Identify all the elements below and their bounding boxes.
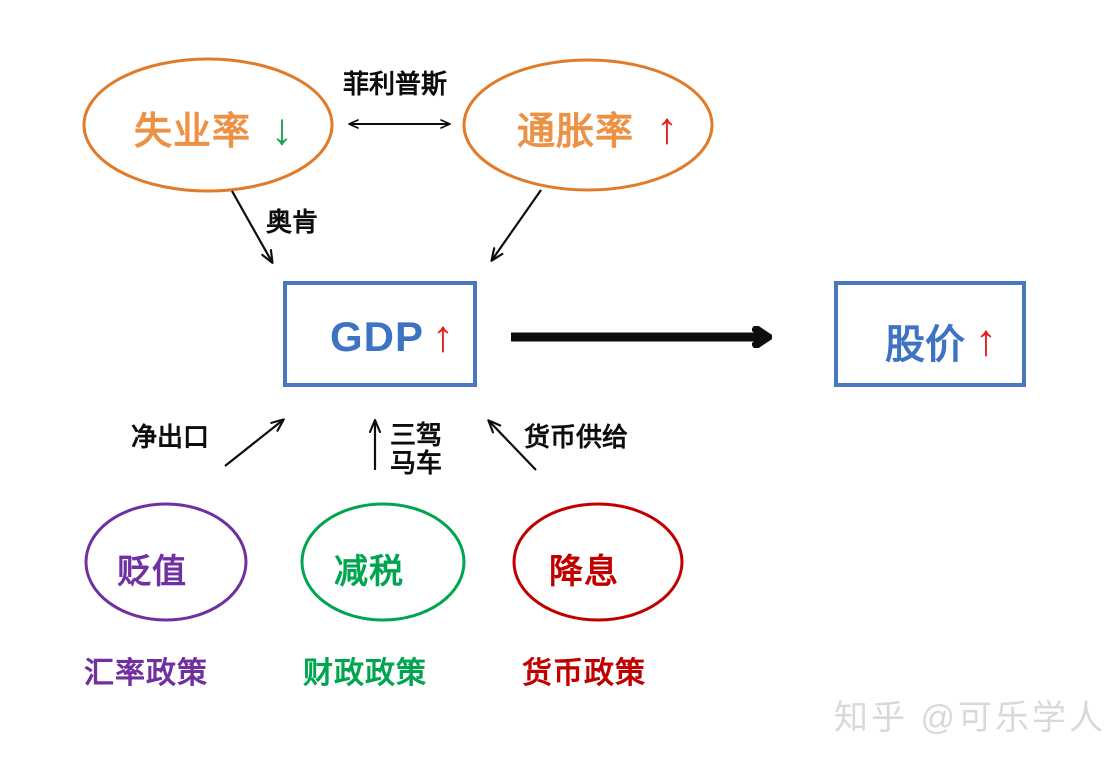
stock-price-box-content: 股价 ↑ <box>885 312 997 370</box>
net-export-arrow <box>225 420 283 466</box>
inflation-trend-arrow-icon: ↑ <box>656 107 678 151</box>
diagram-canvas: 失业率 ↓ 通胀率 ↑ 菲利普斯 奥肯 GDP ↑ 股价 ↑ 净出口 三驾 马车… <box>0 0 1110 758</box>
inflation-node-content: 通胀率 ↑ <box>517 100 678 155</box>
stock-price-trend-arrow-icon: ↑ <box>975 319 997 363</box>
unemployment-trend-arrow-icon: ↓ <box>271 108 293 152</box>
money-supply-connector-label: 货币供给 <box>524 423 628 451</box>
inflation-to-gdp-arrow <box>492 190 541 260</box>
okun-connector-label: 奥肯 <box>266 208 318 236</box>
exchange-rate-policy-caption: 汇率政策 <box>84 648 208 692</box>
tax-cut-label: 减税 <box>334 544 404 593</box>
net-export-connector-label: 净出口 <box>131 423 209 451</box>
phillips-connector-label: 菲利普斯 <box>343 70 447 98</box>
gdp-box-content: GDP ↑ <box>330 313 454 361</box>
troika-connector-label: 三驾 马车 <box>390 421 442 477</box>
gdp-label: GDP <box>330 313 424 361</box>
unemployment-label: 失业率 <box>134 100 251 155</box>
monetary-policy-caption: 货币政策 <box>522 648 646 692</box>
fiscal-policy-caption: 财政政策 <box>303 648 427 692</box>
devaluation-label: 贬值 <box>117 544 187 593</box>
rate-cut-label: 降息 <box>549 544 619 593</box>
stock-price-label: 股价 <box>885 312 965 370</box>
unemployment-node-content: 失业率 ↓ <box>134 100 293 155</box>
gdp-trend-arrow-icon: ↑ <box>432 315 454 359</box>
inflation-label: 通胀率 <box>517 100 634 155</box>
watermark: 知乎 @可乐学人 <box>834 690 1106 739</box>
